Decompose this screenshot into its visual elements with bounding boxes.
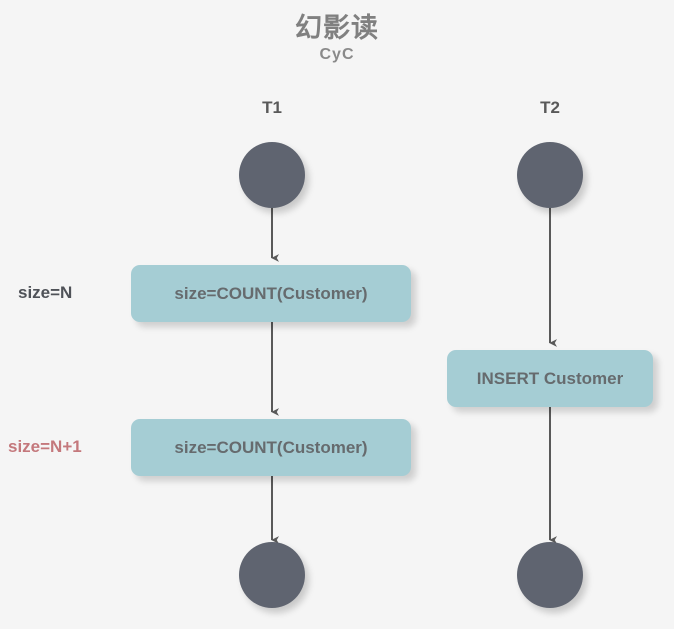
activity-label: size=COUNT(Customer)	[174, 284, 367, 304]
end-node-t2	[517, 542, 583, 608]
activity-label: INSERT Customer	[477, 369, 623, 389]
annotation-size-n: size=N	[18, 283, 72, 303]
activity-t1-count-1[interactable]: size=COUNT(Customer)	[131, 265, 411, 322]
start-node-t2	[517, 142, 583, 208]
lane-label-t2: T2	[490, 98, 610, 118]
page-title: 幻影读	[0, 6, 674, 45]
activity-label: size=COUNT(Customer)	[174, 438, 367, 458]
start-node-t1	[239, 142, 305, 208]
lane-label-t1: T1	[212, 98, 332, 118]
end-node-t1	[239, 542, 305, 608]
page-subtitle: CyC	[0, 46, 674, 64]
annotation-size-n-plus-1: size=N+1	[8, 437, 82, 457]
activity-t1-count-2[interactable]: size=COUNT(Customer)	[131, 419, 411, 476]
diagram-canvas: 幻影读 CyC T1 T2 size=COUNT(Customer) size=…	[0, 0, 674, 629]
activity-t2-insert[interactable]: INSERT Customer	[447, 350, 653, 407]
